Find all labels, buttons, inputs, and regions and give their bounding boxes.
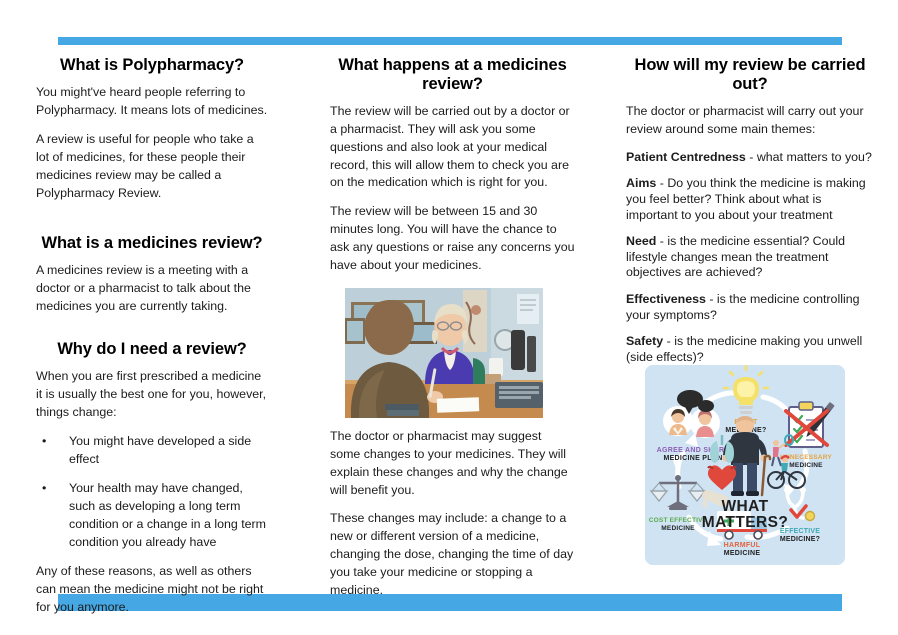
- theme-aims: Aims - Do you think the medicine is maki…: [626, 176, 874, 223]
- top-accent-rule: [58, 37, 842, 45]
- list-item-label: Your health may have changed, such as de…: [69, 481, 266, 549]
- left-column: What is Polypharmacy? You might've heard…: [36, 56, 268, 616]
- bullet-dot: •: [42, 433, 46, 451]
- medicines-review-paragraph-1: A medicines review is a meeting with a d…: [36, 262, 268, 316]
- section-spacer: [36, 214, 268, 234]
- infographic-node-label: MEDICINE: [724, 550, 761, 557]
- theme-term: Safety: [626, 334, 663, 348]
- theme-effectiveness: Effectiveness - is the medicine controll…: [626, 292, 874, 323]
- middle-column: What happens at a medicines review? The …: [330, 56, 575, 275]
- right-column: How will my review be carried out? The d…: [626, 56, 874, 377]
- list-item-label: You might have developed a side effect: [69, 434, 251, 466]
- leaflet-page: What is Polypharmacy? You might've heard…: [0, 0, 898, 635]
- infographic-centre-line1: WHAT: [722, 498, 769, 515]
- theme-description: - is the medicine essential? Could lifes…: [626, 234, 845, 279]
- heading-what-is-polypharmacy: What is Polypharmacy?: [36, 56, 268, 75]
- what-happens-paragraph-1: The review will be carried out by a doct…: [330, 103, 575, 192]
- polypharmacy-paragraph-1: You might've heard people referring to P…: [36, 84, 268, 120]
- why-review-closing: Any of these reasons, as well as others …: [36, 563, 268, 617]
- theme-term: Aims: [626, 176, 656, 190]
- why-review-intro: When you are first prescribed a medicine…: [36, 368, 268, 422]
- heading-what-happens-at-a-medicines-review: What happens at a medicines review?: [330, 56, 575, 95]
- theme-description: - Do you think the medicine is making yo…: [626, 176, 866, 221]
- what-happens-paragraph-3: The doctor or pharmacist may suggest som…: [330, 428, 575, 499]
- what-matters-cycle-infographic: AGREE AND SHARE MEDICINE PLAN RIGHT MEDI…: [645, 365, 845, 565]
- theme-patient-centredness: Patient Centredness - what matters to yo…: [626, 150, 874, 166]
- theme-term: Effectiveness: [626, 292, 706, 306]
- what-matters-cycle-illustration: AGREE AND SHARE MEDICINE PLAN RIGHT MEDI…: [645, 365, 845, 565]
- theme-description: - what matters to you?: [746, 150, 872, 164]
- theme-safety: Safety - is the medicine making you unwe…: [626, 334, 874, 365]
- infographic-node-label: MEDICINE?: [780, 536, 820, 543]
- bullet-dot: •: [42, 480, 46, 498]
- heading-what-is-a-medicines-review: What is a medicines review?: [36, 234, 268, 253]
- what-happens-paragraph-2: The review will be between 15 and 30 min…: [330, 203, 575, 274]
- heading-how-will-my-review-be-carried-out: How will my review be carried out?: [626, 56, 874, 95]
- what-happens-paragraph-4: These changes may include: a change to a…: [330, 510, 575, 599]
- theme-need: Need - is the medicine essential? Could …: [626, 234, 874, 281]
- consultation-photo-illustration: [345, 288, 543, 418]
- infographic-centre-line2: MATTERS?: [702, 514, 788, 531]
- infographic-node-label: MEDICINE: [789, 462, 823, 469]
- theme-term: Patient Centredness: [626, 150, 746, 164]
- heading-why-do-i-need-a-review: Why do I need a review?: [36, 340, 268, 359]
- infographic-node-label: HARMFUL: [724, 542, 761, 549]
- polypharmacy-paragraph-2: A review is useful for people who take a…: [36, 131, 268, 202]
- review-themes-intro: The doctor or pharmacist will carry out …: [626, 103, 874, 139]
- middle-column-lower: The doctor or pharmacist may suggest som…: [330, 428, 575, 600]
- infographic-node-label: COST EFFECTIVE: [649, 517, 708, 524]
- list-item: • Your health may have changed, such as …: [36, 480, 268, 551]
- why-review-bullet-list: • You might have developed a side effect…: [36, 433, 268, 552]
- section-spacer: [36, 327, 268, 340]
- infographic-node-label: MEDICINE: [661, 525, 695, 532]
- list-item: • You might have developed a side effect: [36, 433, 268, 469]
- theme-term: Need: [626, 234, 656, 248]
- consultation-photo: [345, 288, 543, 418]
